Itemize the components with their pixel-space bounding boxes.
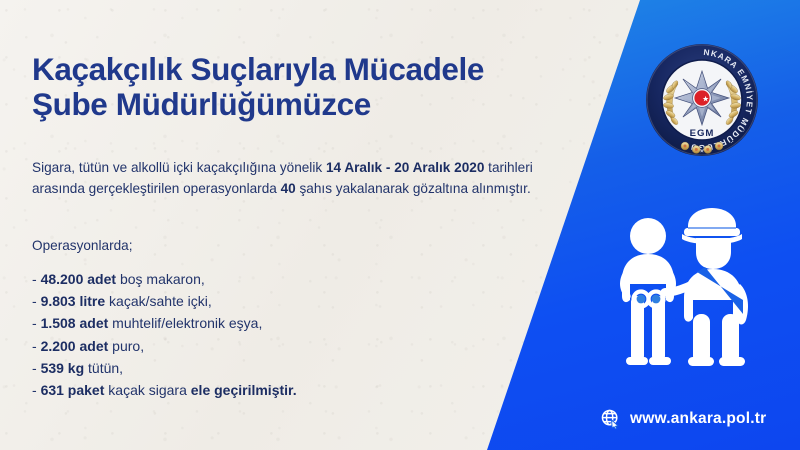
intro-part-3: şahıs yakalanarak gözaltına alınmıştır. (296, 181, 531, 196)
item-label: puro, (108, 338, 144, 354)
website-footer[interactable]: www.ankara.pol.tr (600, 408, 766, 429)
globe-cursor-icon (600, 408, 621, 429)
list-item: - 48.200 adet boş makaron, (32, 268, 502, 290)
item-dash: - (32, 315, 41, 331)
operations-label: Operasyonlarda; (32, 238, 133, 253)
intro-part-1: Sigara, tütün ve alkollü içki kaçakçılığ… (32, 160, 326, 175)
intro-date-range: 14 Aralık - 20 Aralık 2020 (326, 160, 484, 175)
intro-paragraph: Sigara, tütün ve alkollü içki kaçakçılığ… (32, 157, 544, 200)
item-seized-phrase: ele geçirilmiştir. (191, 382, 297, 398)
item-quantity: 9.803 litre (41, 293, 106, 309)
list-item: - 2.200 adet puro, (32, 335, 502, 357)
item-dash: - (32, 338, 41, 354)
title-line-2: Şube Müdürlüğümüzce (32, 87, 612, 122)
item-label: kaçak/sahte içki, (105, 293, 212, 309)
list-item: - 1.508 adet muhtelif/elektronik eşya, (32, 312, 502, 334)
intro-person-count: 40 (281, 181, 296, 196)
item-quantity: 631 paket (41, 382, 105, 398)
item-dash: - (32, 382, 41, 398)
item-quantity: 2.200 adet (41, 338, 109, 354)
item-dash: - (32, 271, 41, 287)
item-label: muhtelif/elektronik eşya, (108, 315, 262, 331)
item-quantity: 1.508 adet (41, 315, 109, 331)
badge-center-text: EGM (690, 128, 715, 139)
item-label: tütün, (84, 360, 123, 376)
title-line-1: Kaçakçılık Suçlarıyla Mücadele (32, 51, 484, 87)
list-item: - 9.803 litre kaçak/sahte içki, (32, 290, 502, 312)
item-quantity: 539 kg (41, 360, 85, 376)
page-title: Kaçakçılık Suçlarıyla Mücadele Şube Müdü… (32, 52, 612, 122)
seized-items-list: - 48.200 adet boş makaron, - 9.803 litre… (32, 268, 502, 401)
poster-canvas: Kaçakçılık Suçlarıyla Mücadele Şube Müdü… (0, 0, 800, 450)
police-arrest-illustration-icon (600, 196, 780, 376)
item-dash: - (32, 360, 41, 376)
item-quantity: 48.200 adet (41, 271, 117, 287)
ankara-police-emblem-icon: ANKARA EMNİYET MÜDÜRLÜĞÜ (644, 42, 760, 158)
list-item: - 539 kg tütün, (32, 357, 502, 379)
item-dash: - (32, 293, 41, 309)
item-label: boş makaron, (116, 271, 205, 287)
list-item: - 631 paket kaçak sigara ele geçirilmişt… (32, 379, 502, 401)
website-url-label[interactable]: www.ankara.pol.tr (630, 410, 766, 428)
item-label: kaçak sigara (104, 382, 190, 398)
